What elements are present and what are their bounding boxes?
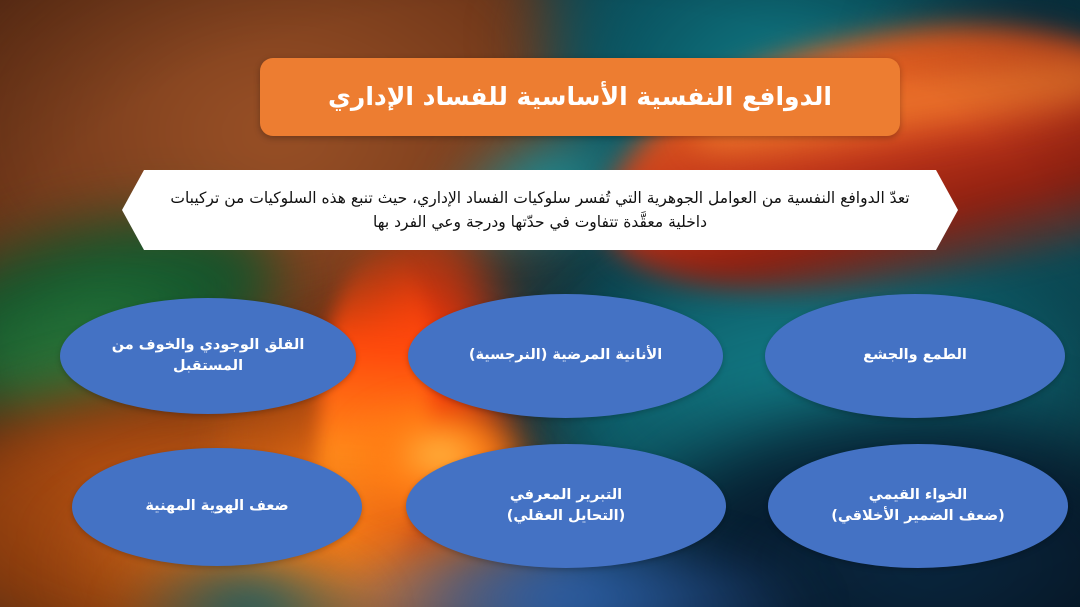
ellipse-label: الأنانية المرضية (النرجسية)	[443, 345, 688, 366]
page-title: الدوافع النفسية الأساسية للفساد الإداري	[308, 81, 852, 112]
ellipse-value-emptiness[interactable]: الخواء القيمي(ضعف الضمير الأخلاقي)	[768, 444, 1068, 568]
ellipse-anxiety-fear-future[interactable]: القلق الوجودي والخوف من المستقبل	[60, 298, 356, 414]
slide-canvas: الدوافع النفسية الأساسية للفساد الإداري …	[0, 0, 1080, 607]
ellipse-label: القلق الوجودي والخوف من المستقبل	[60, 335, 356, 377]
ellipse-greed[interactable]: الطمع والجشع	[765, 294, 1065, 418]
ellipse-label: التبرير المعرفي(التحايل العقلي)	[481, 485, 652, 527]
body-paragraph: تعدّ الدوافع النفسية من العوامل الجوهرية…	[122, 186, 958, 234]
title-banner: الدوافع النفسية الأساسية للفساد الإداري	[260, 58, 900, 136]
ellipse-label: ضعف الهوية المهنية	[119, 496, 314, 517]
ellipse-cognitive-justification[interactable]: التبرير المعرفي(التحايل العقلي)	[406, 444, 726, 568]
ellipse-weak-professional-identity[interactable]: ضعف الهوية المهنية	[72, 448, 362, 566]
ellipse-label: الخواء القيمي(ضعف الضمير الأخلاقي)	[805, 485, 1031, 527]
ellipse-pathological-narcissism[interactable]: الأنانية المرضية (النرجسية)	[408, 294, 723, 418]
ellipse-label: الطمع والجشع	[837, 345, 993, 366]
body-text-box: تعدّ الدوافع النفسية من العوامل الجوهرية…	[122, 170, 958, 250]
